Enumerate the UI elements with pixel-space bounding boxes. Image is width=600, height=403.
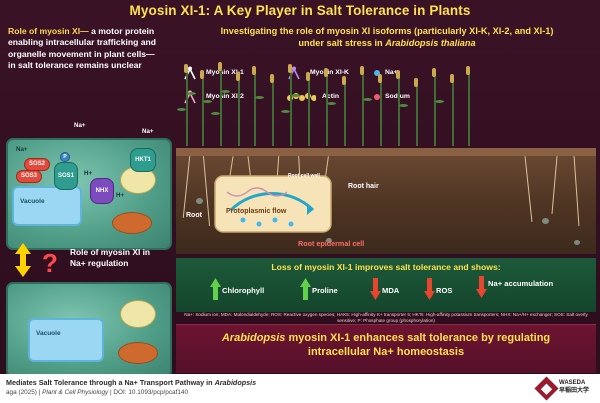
right-headline: Investigating the role of myosin XI isof… — [182, 26, 592, 49]
plant-cell-diagram-top: Vacuole SOS2 SOS3 P SOS1 NHX HKT1 H+ H+ … — [6, 138, 172, 250]
conclusion-species: Arabidopsis — [222, 332, 286, 344]
vacuole-top: Vacuole — [12, 186, 82, 226]
footer: Mediates Salt Tolerance through a Na+ Tr… — [0, 374, 600, 403]
vacuole-bottom: Vacuole — [28, 318, 104, 362]
result-label-chlorophyll: Chlorophyll — [222, 286, 264, 295]
citation-journal: Plant & Cell Physiology — [42, 389, 108, 396]
waseda-name-jp: 早稲田大学 — [559, 388, 589, 394]
updown-arrow-icon — [14, 243, 32, 277]
label-root-cell-wall: Root cell wall — [288, 173, 320, 179]
vacuole-bottom-label: Vacuole — [36, 330, 61, 337]
waseda-diamond-icon — [534, 376, 558, 400]
result-label-mda: MDA — [382, 286, 399, 295]
sos3-protein: SOS3 — [16, 170, 42, 183]
na-plus-label-outside-2: Na+ — [142, 128, 154, 135]
label-root-epidermal-cell: Root epidermal cell — [298, 239, 364, 248]
result-label-ros: ROS — [436, 286, 452, 295]
waseda-logo: WASEDA 早稲田大学 — [538, 378, 596, 400]
vacuole-top-label: Vacuole — [20, 198, 45, 205]
h-plus-label-1: H+ — [84, 170, 92, 177]
page-title: Myosin XI-1: A Key Player in Salt Tolera… — [0, 3, 600, 18]
plant-cell-diagram-bottom: Vacuole — [6, 282, 172, 378]
waseda-logo-text: WASEDA 早稲田大学 — [559, 380, 589, 395]
conclusion-band: Arabidopsis myosin XI-1 enhances salt to… — [176, 324, 596, 373]
citation-subtitle: aga (2025) | Plant & Cell Physiology | D… — [6, 389, 436, 396]
ros-down-arrow-icon — [424, 278, 435, 300]
label-root-hair: Root hair — [348, 183, 379, 190]
mid-role-label: Role of myosin XI in Na+ regulation — [70, 247, 166, 268]
chloroplast-icon — [112, 212, 152, 234]
citation-doi: | DOI: 10.1093/pcp/pcaf140 — [108, 389, 188, 396]
results-title: Loss of myosin XI-1 improves salt tolera… — [176, 262, 596, 272]
conclusion-text: Arabidopsis myosin XI-1 enhances salt to… — [182, 331, 590, 359]
label-root: Root — [186, 212, 202, 219]
citation-title-text: Mediates Salt Tolerance through a Na+ Tr… — [6, 378, 215, 387]
waseda-name-en: WASEDA — [559, 380, 585, 386]
conclusion-line1-rest: myosin XI-1 enhances salt tolerance by r… — [285, 332, 550, 344]
chloroplast-icon-2 — [118, 342, 158, 364]
proline-up-arrow-icon — [300, 278, 311, 300]
nucleus-icon-2 — [120, 300, 156, 328]
left-intro-text: Role of myosin XI— a motor protein enabl… — [8, 26, 160, 72]
species-name: Arabidopsis thaliana — [385, 38, 475, 48]
citation-title-species: Arabidopsis — [215, 378, 257, 387]
right-headline-line1: Investigating the role of myosin XI isof… — [221, 26, 554, 36]
conclusion-line2: intracellular Na+ homeostasis — [308, 346, 464, 358]
h-plus-label-2: H+ — [116, 192, 124, 199]
mda-down-arrow-icon — [370, 278, 381, 300]
chlorophyll-up-arrow-icon — [210, 278, 221, 300]
plant-scene — [180, 60, 480, 146]
phosphate-group: P — [60, 152, 70, 162]
citation-sub-pre: aga (2025) | — [6, 389, 42, 396]
root-epidermal-cell-illustration — [213, 170, 333, 238]
soil-surface — [176, 148, 596, 156]
na-plus-label-outside-1: Na+ — [74, 122, 86, 129]
abbreviations-note: Na+: Sodium ion; MDA: Malondialdehyde; R… — [178, 312, 594, 324]
label-protoplasmic-flow: Protoplasmic flow — [226, 208, 286, 215]
na-accumulation-down-arrow-icon — [476, 276, 487, 298]
question-mark-icon: ? — [42, 248, 58, 279]
nhx-transporter: NHX — [90, 178, 114, 204]
na-plus-label-inner: Na+ — [16, 146, 28, 153]
result-label-na-accumulation: Na+ accumulation — [488, 279, 554, 288]
sos1-transporter: SOS1 — [54, 162, 78, 190]
left-intro-highlight: Role of myosin XI— — [8, 26, 89, 36]
hkt1-transporter: HKT1 — [130, 148, 156, 172]
right-headline-line2-pre: under salt stress in — [298, 38, 385, 48]
infographic-root: Myosin XI-1: A Key Player in Salt Tolera… — [0, 0, 600, 403]
result-label-proline: Proline — [312, 286, 338, 295]
results-band: Loss of myosin XI-1 improves salt tolera… — [176, 258, 596, 312]
citation-title: Mediates Salt Tolerance through a Na+ Tr… — [6, 378, 436, 387]
